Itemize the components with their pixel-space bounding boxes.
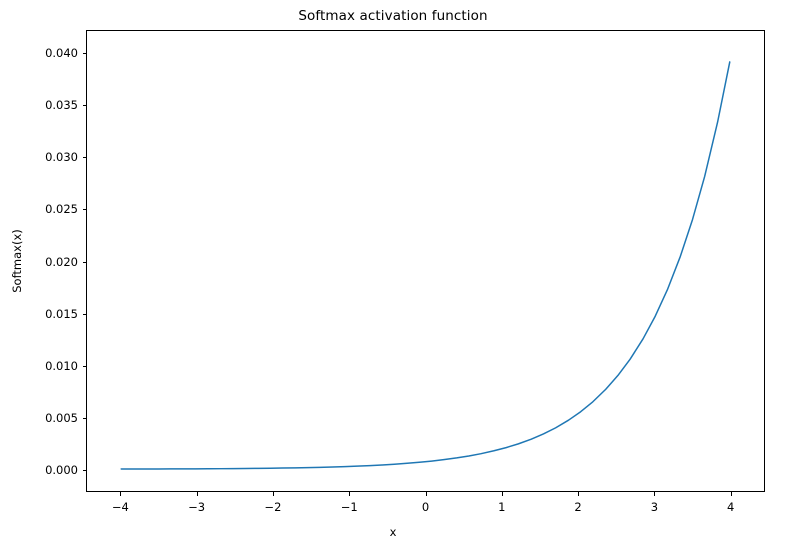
x-axis-label: x (0, 525, 786, 539)
y-tick-label: 0.000 (14, 463, 78, 477)
x-tick-mark (273, 492, 274, 496)
x-tick-mark (578, 492, 579, 496)
x-tick-label: −2 (264, 500, 281, 514)
x-tick-mark (731, 492, 732, 496)
y-tick-label: 0.030 (14, 150, 78, 164)
x-tick-mark (349, 492, 350, 496)
x-tick-label: −1 (341, 500, 358, 514)
y-tick-label: 0.035 (14, 98, 78, 112)
x-tick-label: 1 (498, 500, 505, 514)
y-tick-label: 0.010 (14, 359, 78, 373)
x-tick-label: 0 (422, 500, 429, 514)
y-tick-label: 0.015 (14, 307, 78, 321)
x-tick-mark (654, 492, 655, 496)
softmax-curve-svg (87, 31, 764, 491)
y-axis-label: Softmax(x) (10, 229, 24, 293)
x-tick-mark (120, 492, 121, 496)
matplotlib-figure: Softmax activation function 0.0000.0050.… (0, 0, 786, 547)
x-tick-mark (197, 492, 198, 496)
plot-area (86, 30, 765, 492)
x-tick-label: −4 (112, 500, 129, 514)
x-tick-label: 3 (651, 500, 658, 514)
x-tick-mark (502, 492, 503, 496)
x-tick-label: 2 (574, 500, 581, 514)
y-tick-label: 0.005 (14, 411, 78, 425)
chart-title: Softmax activation function (0, 8, 786, 24)
x-tick-label: −3 (188, 500, 205, 514)
x-tick-mark (426, 492, 427, 496)
y-tick-label: 0.040 (14, 46, 78, 60)
y-tick-label: 0.025 (14, 202, 78, 216)
x-tick-label: 4 (727, 500, 734, 514)
softmax-curve-line (121, 62, 730, 469)
